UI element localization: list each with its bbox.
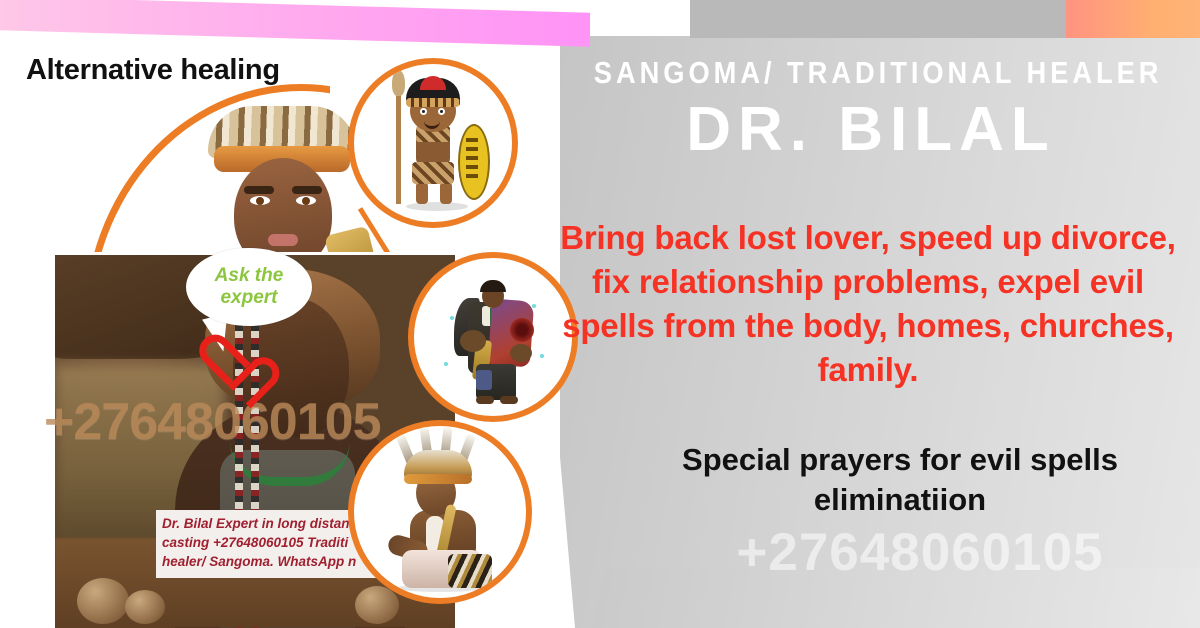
sangoma-striped-cloth — [448, 554, 492, 588]
warrior-eye-right — [438, 108, 445, 115]
healer2-shoe-left — [476, 396, 494, 404]
warrior-headband — [406, 98, 460, 107]
healer2-sparkle-4 — [444, 362, 448, 366]
kicker-text: SANGOMA/ TRADITIONAL HEALER — [594, 56, 1148, 90]
healer2-shoe-right — [500, 396, 518, 404]
warrior-eye-left — [420, 108, 427, 115]
headline-block: SANGOMA/ TRADITIONAL HEALER DR. BILAL — [556, 56, 1186, 165]
top-orange-strip — [1066, 0, 1200, 38]
speech-bubble-text: Ask the expert — [186, 265, 312, 309]
warrior-skirt — [412, 162, 454, 184]
photo-pot-2 — [125, 590, 165, 624]
right-phone-watermark: +27648060105 — [640, 522, 1200, 583]
poster-canvas: Alternative healing +2 — [0, 0, 1200, 628]
healer2-leg-blue — [476, 370, 492, 390]
page-title: DR. BILAL — [556, 94, 1186, 165]
healer2-cape-emblem — [510, 318, 534, 342]
warrior-leg-right — [440, 182, 452, 204]
photo-pot-1 — [77, 578, 129, 624]
alternative-healing-label: Alternative healing — [26, 54, 280, 87]
heart-icon — [196, 336, 260, 394]
sangoma-headband — [404, 474, 472, 484]
caption-line-3: healer/ Sangoma. WhatsApp n — [162, 552, 380, 571]
speech-bubble: Ask the expert — [186, 248, 312, 326]
warrior-shield-pattern — [466, 138, 478, 182]
healer2-bag — [510, 344, 532, 362]
warrior-leg-left — [416, 182, 428, 204]
healer2-sparkle-1 — [450, 316, 454, 320]
healer2-sparkle-3 — [540, 354, 544, 358]
warrior-shadow — [406, 202, 468, 211]
warrior-spear-tip-icon — [392, 70, 405, 96]
special-prayers-text: Special prayers for evil spells eliminat… — [600, 440, 1200, 521]
healer2-sparkle-2 — [532, 304, 536, 308]
badge-zulu-warrior — [348, 58, 518, 228]
healer2-hair — [480, 280, 506, 292]
services-text: Bring back lost lover, speed up divorce,… — [548, 216, 1188, 392]
healer2-satchel — [460, 330, 486, 352]
badge-kneeling-sangoma — [348, 420, 532, 604]
warrior-spear-icon — [396, 82, 401, 204]
caption-line-2: casting +27648060105 Traditi — [162, 533, 380, 552]
photo-pot-3 — [355, 586, 399, 624]
